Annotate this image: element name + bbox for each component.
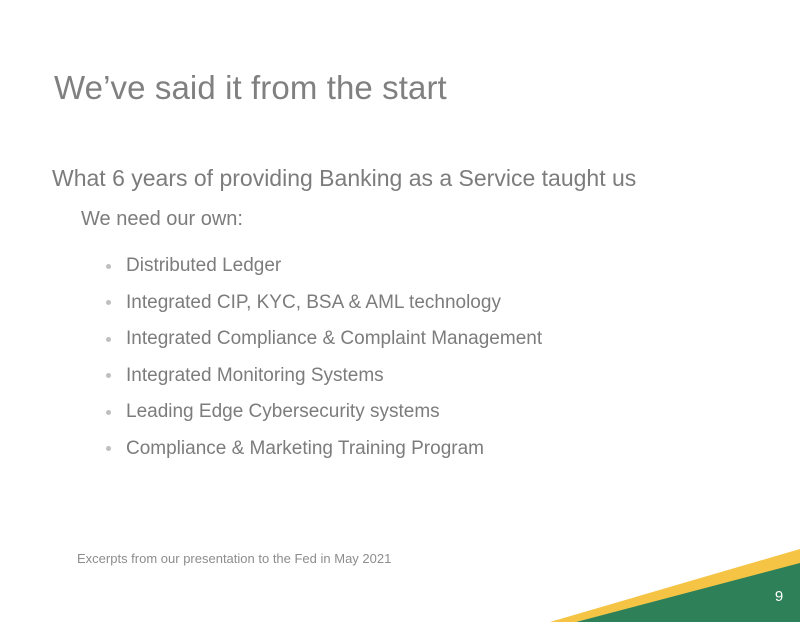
lead-statement: What 6 years of providing Banking as a S… xyxy=(52,165,636,192)
bullet-dot-icon xyxy=(106,446,111,451)
list-item-label: Integrated Compliance & Complaint Manage… xyxy=(126,328,542,350)
page-number: 9 xyxy=(768,588,790,605)
list-item: Integrated Compliance & Complaint Manage… xyxy=(104,321,542,358)
page-title: We’ve said it from the start xyxy=(54,69,447,107)
list-item-label: Compliance & Marketing Training Program xyxy=(126,438,484,460)
list-item-label: Integrated CIP, KYC, BSA & AML technolog… xyxy=(126,292,501,314)
presentation-slide: We’ve said it from the start What 6 year… xyxy=(0,0,800,622)
gold-stripe-shape xyxy=(550,549,800,622)
list-item-label: Distributed Ledger xyxy=(126,255,281,277)
list-item: Leading Edge Cybersecurity systems xyxy=(104,394,542,431)
list-item: Compliance & Marketing Training Program xyxy=(104,431,542,468)
bullet-dot-icon xyxy=(106,300,111,305)
green-triangle-shape xyxy=(576,563,800,622)
list-item-label: Integrated Monitoring Systems xyxy=(126,365,384,387)
bullet-dot-icon xyxy=(106,373,111,378)
bullet-dot-icon xyxy=(106,337,111,342)
list-item: Integrated Monitoring Systems xyxy=(104,358,542,395)
bullet-list: Distributed Ledger Integrated CIP, KYC, … xyxy=(104,248,542,467)
list-item: Integrated CIP, KYC, BSA & AML technolog… xyxy=(104,285,542,322)
bullet-dot-icon xyxy=(106,264,111,269)
sub-statement: We need our own: xyxy=(81,208,243,231)
bullet-dot-icon xyxy=(106,410,111,415)
source-footnote: Excerpts from our presentation to the Fe… xyxy=(77,551,391,566)
list-item-label: Leading Edge Cybersecurity systems xyxy=(126,401,440,423)
list-item: Distributed Ledger xyxy=(104,248,542,285)
